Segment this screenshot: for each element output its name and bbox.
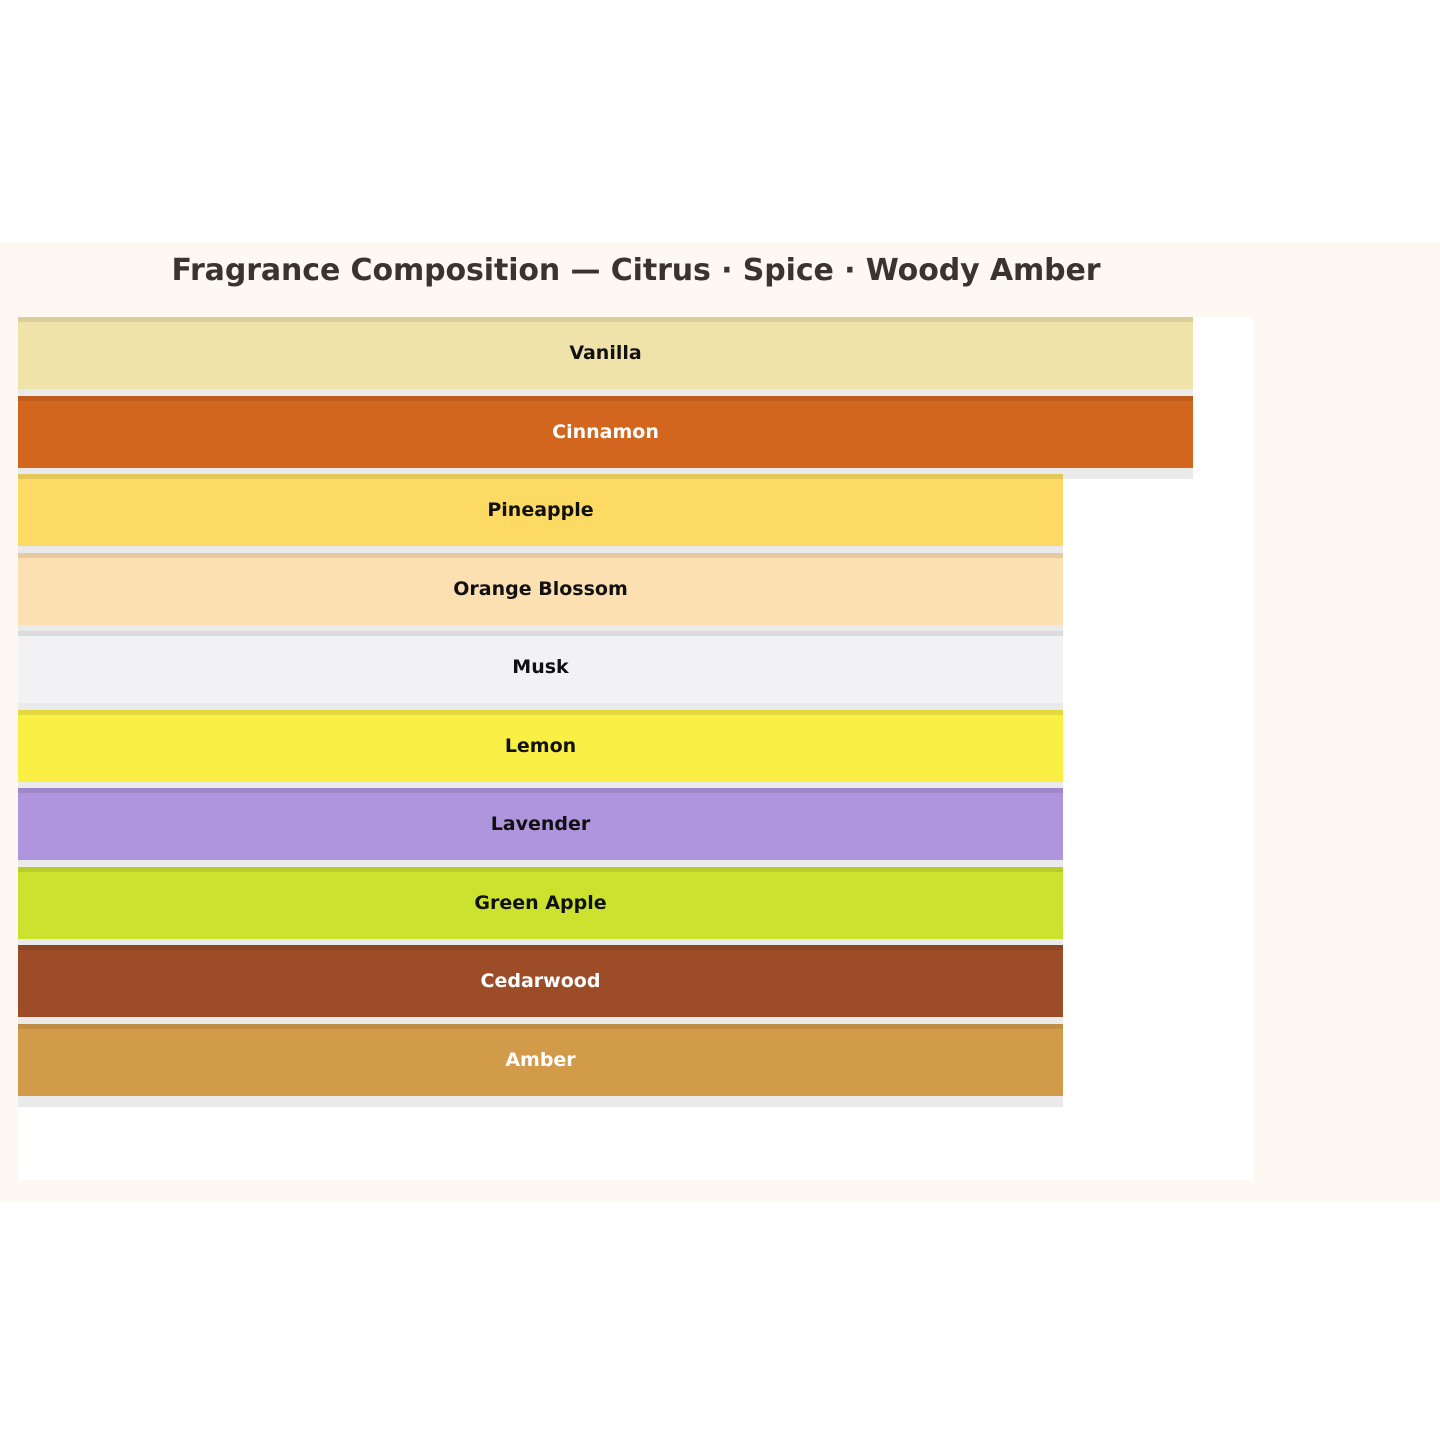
bar-top-highlight	[18, 945, 1063, 950]
bar-vanilla[interactable]	[18, 317, 1193, 389]
bar-top-highlight	[18, 1024, 1063, 1029]
bar-row[interactable]: Pineapple	[18, 474, 1063, 546]
bar-musk[interactable]	[18, 631, 1063, 703]
bar-row[interactable]: Orange Blossom	[18, 553, 1063, 625]
bar-top-highlight	[18, 396, 1193, 401]
bar-top-highlight	[18, 867, 1063, 872]
bar-row[interactable]: Vanilla	[18, 317, 1193, 389]
chart-title: Fragrance Composition — Citrus · Spice ·…	[0, 253, 1272, 288]
bar-cedarwood[interactable]	[18, 945, 1063, 1017]
bar-row[interactable]: Amber	[18, 1024, 1063, 1096]
bar-top-highlight	[18, 631, 1063, 636]
bar-lemon[interactable]	[18, 710, 1063, 782]
plot-area: VanillaCinnamonPineappleOrange BlossomMu…	[18, 317, 1254, 1180]
bar-row[interactable]: Musk	[18, 631, 1063, 703]
bar-row[interactable]: Cinnamon	[18, 396, 1193, 468]
bar-amber[interactable]	[18, 1024, 1063, 1096]
bar-top-highlight	[18, 710, 1063, 715]
bar-orange-blossom[interactable]	[18, 553, 1063, 625]
bar-pineapple[interactable]	[18, 474, 1063, 546]
bar-green-apple[interactable]	[18, 867, 1063, 939]
bar-row[interactable]: Green Apple	[18, 867, 1063, 939]
bar-top-highlight	[18, 553, 1063, 558]
chart-figure: Fragrance Composition — Citrus · Spice ·…	[0, 242, 1440, 1201]
bar-row[interactable]: Lemon	[18, 710, 1063, 782]
bar-top-highlight	[18, 474, 1063, 479]
bar-lavender[interactable]	[18, 788, 1063, 860]
bar-top-highlight	[18, 317, 1193, 322]
bar-row[interactable]: Lavender	[18, 788, 1063, 860]
bar-row[interactable]: Cedarwood	[18, 945, 1063, 1017]
bar-top-highlight	[18, 788, 1063, 793]
bar-cinnamon[interactable]	[18, 396, 1193, 468]
